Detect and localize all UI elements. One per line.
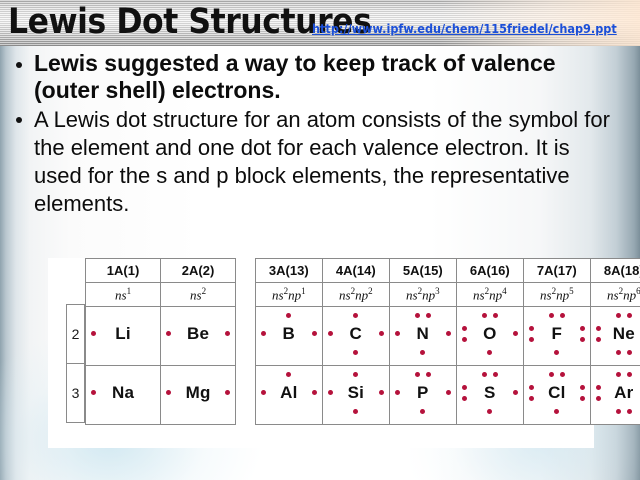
group-header-7A17: 7A(17) (523, 259, 590, 283)
bullet-dot-icon (16, 117, 22, 123)
lewis-structure-n: N (390, 309, 456, 359)
lewis-structure-c: C (323, 309, 389, 359)
group-header-6A16: 6A(16) (456, 259, 523, 283)
electron-dot (482, 372, 487, 377)
electron-dot (616, 372, 621, 377)
atom-cell-na: Na (86, 366, 161, 425)
config-header-ns2np5: ns2np5 (523, 283, 590, 307)
electron-dot (560, 313, 565, 318)
bullet-item-1: Lewis suggested a way to keep track of v… (0, 50, 564, 104)
electron-dot (513, 390, 518, 395)
electron-dot (596, 326, 601, 331)
bullet-item-2: A Lewis dot structure for an atom consis… (0, 106, 610, 218)
lewis-structure-cl: Cl (524, 368, 590, 418)
electron-dot (261, 390, 266, 395)
lewis-structure-o: O (457, 309, 523, 359)
electron-dot (493, 313, 498, 318)
group-header-5A15: 5A(15) (389, 259, 456, 283)
electron-dot (462, 396, 467, 401)
electron-dot (627, 409, 632, 414)
group-header-row: 1A(1)2A(2) (86, 259, 236, 283)
electron-dot (286, 313, 291, 318)
atom-cell-b: B (255, 307, 322, 366)
electron-dot (462, 326, 467, 331)
atom-cell-c: C (322, 307, 389, 366)
table-blocks: 2 3 1A(1)2A(2)ns1ns2LiBeNaMg 3A(13)4A(14… (66, 258, 640, 425)
lewis-structure-p: P (390, 368, 456, 418)
config-header-ns2np4: ns2np4 (456, 283, 523, 307)
lewis-dot-table-panel: Period 2 3 1A(1)2A(2)ns1ns2LiBeNaMg 3A(1… (48, 258, 594, 448)
electron-dot (487, 350, 492, 355)
electron-dot (379, 390, 384, 395)
electron-dot (596, 337, 601, 342)
electron-dot (529, 396, 534, 401)
electron-dot (529, 385, 534, 390)
right-group-block: 3A(13)4A(14)5A(15)6A(16)7A(17)8A(18)ns2n… (255, 258, 640, 425)
electron-dot (627, 350, 632, 355)
group-header-8A18: 8A(18) (590, 259, 640, 283)
table-row: AlSiPSClAr (255, 366, 640, 425)
table-row: NaMg (86, 366, 236, 425)
electron-dot (395, 331, 400, 336)
config-header-ns2np1: ns2np1 (255, 283, 322, 307)
lewis-structure-si: Si (323, 368, 389, 418)
electron-dot (446, 390, 451, 395)
lewis-structure-b: B (256, 309, 322, 359)
group-header-row: 3A(13)4A(14)5A(15)6A(16)7A(17)8A(18) (255, 259, 640, 283)
electron-dot (493, 372, 498, 377)
electron-dot (554, 409, 559, 414)
electron-dot (312, 331, 317, 336)
electron-dot (616, 409, 621, 414)
source-url-link[interactable]: http://www.ipfw.edu/chem/115friedel/chap… (312, 22, 617, 36)
electron-dot (446, 331, 451, 336)
electron-dot (616, 313, 621, 318)
electron-dot (580, 385, 585, 390)
config-header-row: ns1ns2 (86, 283, 236, 307)
atom-cell-o: O (456, 307, 523, 366)
bullet-dot-icon (16, 62, 22, 68)
electron-dot (261, 331, 266, 336)
electron-dot (353, 350, 358, 355)
bullet-text-1: Lewis suggested a way to keep track of v… (34, 50, 556, 103)
atom-cell-al: Al (255, 366, 322, 425)
electron-dot (415, 313, 420, 318)
config-header-ns2np2: ns2np2 (322, 283, 389, 307)
atom-cell-be: Be (161, 307, 236, 366)
electron-dot (426, 372, 431, 377)
electron-dot (328, 331, 333, 336)
period-number-column: 2 3 (66, 258, 85, 423)
lewis-structure-s: S (457, 368, 523, 418)
atom-cell-p: P (389, 366, 456, 425)
group-header-4A14: 4A(14) (322, 259, 389, 283)
atom-cell-cl: Cl (523, 366, 590, 425)
electron-dot (596, 396, 601, 401)
electron-dot (596, 385, 601, 390)
electron-dot (420, 350, 425, 355)
electron-dot (580, 396, 585, 401)
bullet-list: Lewis suggested a way to keep track of v… (0, 50, 640, 218)
lewis-structure-f: F (524, 309, 590, 359)
electron-dot (529, 337, 534, 342)
atom-cell-li: Li (86, 307, 161, 366)
config-header-ns2np6: ns2np6 (590, 283, 640, 307)
electron-dot (312, 390, 317, 395)
electron-dot (513, 331, 518, 336)
electron-dot (482, 313, 487, 318)
electron-dot (462, 385, 467, 390)
electron-dot (616, 350, 621, 355)
electron-dot (529, 326, 534, 331)
electron-dot (487, 409, 492, 414)
config-header-ns2np3: ns2np3 (389, 283, 456, 307)
period-number-3: 3 (67, 364, 85, 423)
electron-dot (627, 372, 632, 377)
element-symbol: Li (86, 324, 160, 344)
atom-cell-ne: Ne (590, 307, 640, 366)
lewis-structure-ar: Ar (591, 368, 640, 418)
electron-dot (353, 313, 358, 318)
electron-dot (426, 313, 431, 318)
lewis-structure-na: Na (86, 368, 160, 418)
atom-cell-ar: Ar (590, 366, 640, 425)
period-number-2: 2 (67, 305, 85, 364)
config-header-ns2: ns2 (161, 283, 236, 307)
electron-dot (379, 331, 384, 336)
electron-dot (549, 372, 554, 377)
lewis-structure-mg: Mg (161, 368, 235, 418)
lewis-structure-be: Be (161, 309, 235, 359)
electron-dot (328, 390, 333, 395)
atom-cell-si: Si (322, 366, 389, 425)
electron-dot (580, 326, 585, 331)
group-header-3A13: 3A(13) (255, 259, 322, 283)
config-header-row: ns2np1ns2np2ns2np3ns2np4ns2np5ns2np6 (255, 283, 640, 307)
slide-body: Lewis suggested a way to keep track of v… (0, 50, 640, 250)
atom-cell-s: S (456, 366, 523, 425)
electron-dot (395, 390, 400, 395)
config-header-ns1: ns1 (86, 283, 161, 307)
table-row: BCNOFNe (255, 307, 640, 366)
left-group-block: 1A(1)2A(2)ns1ns2LiBeNaMg (85, 258, 236, 425)
element-symbol: Na (86, 383, 160, 403)
atom-cell-n: N (389, 307, 456, 366)
electron-dot (560, 372, 565, 377)
slide-canvas: Lewis Dot Structures http://www.ipfw.edu… (0, 0, 640, 480)
electron-dot (353, 409, 358, 414)
electron-dot (627, 313, 632, 318)
electron-dot (420, 409, 425, 414)
lewis-structure-ne: Ne (591, 309, 640, 359)
electron-dot (580, 337, 585, 342)
bullet-text-2: A Lewis dot structure for an atom consis… (34, 107, 610, 216)
element-symbol: Be (161, 324, 235, 344)
atom-cell-mg: Mg (161, 366, 236, 425)
atom-cell-f: F (523, 307, 590, 366)
slide-title-bar: Lewis Dot Structures http://www.ipfw.edu… (0, 0, 640, 46)
group-header-2A2: 2A(2) (161, 259, 236, 283)
electron-dot (549, 313, 554, 318)
lewis-structure-li: Li (86, 309, 160, 359)
electron-dot (286, 372, 291, 377)
group-header-1A1: 1A(1) (86, 259, 161, 283)
lewis-structure-al: Al (256, 368, 322, 418)
electron-dot (415, 372, 420, 377)
electron-dot (353, 372, 358, 377)
electron-dot (462, 337, 467, 342)
element-symbol: Mg (161, 383, 235, 403)
table-row: LiBe (86, 307, 236, 366)
electron-dot (554, 350, 559, 355)
